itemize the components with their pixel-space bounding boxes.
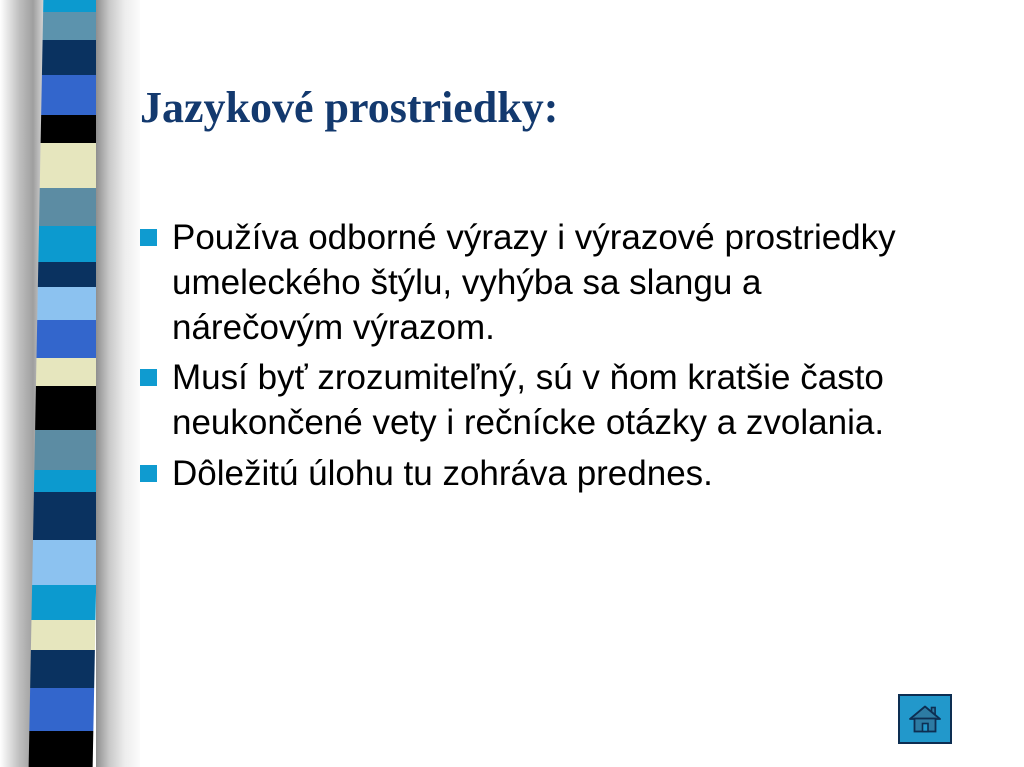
home-icon (908, 704, 942, 734)
stripe-segment (30, 650, 95, 688)
list-item: Musí byť zrozumiteľný, sú v ňom kratšie … (140, 356, 940, 446)
square-bullet-icon (140, 229, 157, 246)
page-title: Jazykové prostriedky: (140, 84, 960, 132)
square-bullet-icon (140, 369, 157, 386)
bullet-list: Používa odborné výrazy i výrazové prostr… (140, 216, 940, 503)
stripe-segment (34, 470, 98, 492)
list-item: Používa odborné výrazy i výrazové prostr… (140, 216, 940, 350)
presentation-slide: Jazykové prostriedky: Používa odborné vý… (0, 0, 1024, 767)
list-item: Dôležitú úlohu tu zohráva prednes. (140, 452, 940, 497)
stripe-segment (36, 358, 101, 386)
list-item-text: Používa odborné výrazy i výrazové prostr… (172, 216, 940, 350)
decorative-stripe-band (0, 0, 140, 767)
stripe-segment (36, 320, 101, 358)
stripe-segment (38, 226, 103, 262)
stripe-segment (29, 688, 94, 730)
stripe-segment (39, 188, 104, 226)
list-item-text: Dôležitú úlohu tu zohráva prednes. (172, 452, 940, 497)
list-item-text: Musí byť zrozumiteľný, sú v ňom kratšie … (172, 356, 940, 446)
stripe-segment (35, 386, 100, 429)
stripe-segment (37, 287, 102, 320)
home-button[interactable] (898, 694, 952, 744)
square-bullet-icon (140, 465, 157, 482)
stripe-segment (32, 540, 97, 585)
stripe-segment (31, 585, 96, 620)
stripe-segment (33, 492, 98, 540)
band-shadow-right (96, 0, 140, 767)
stripe-segment (34, 430, 99, 470)
stripe-segment (40, 143, 105, 188)
stripe-segment (31, 620, 96, 650)
stripe-segment (29, 731, 94, 767)
stripe-segment (38, 262, 102, 287)
